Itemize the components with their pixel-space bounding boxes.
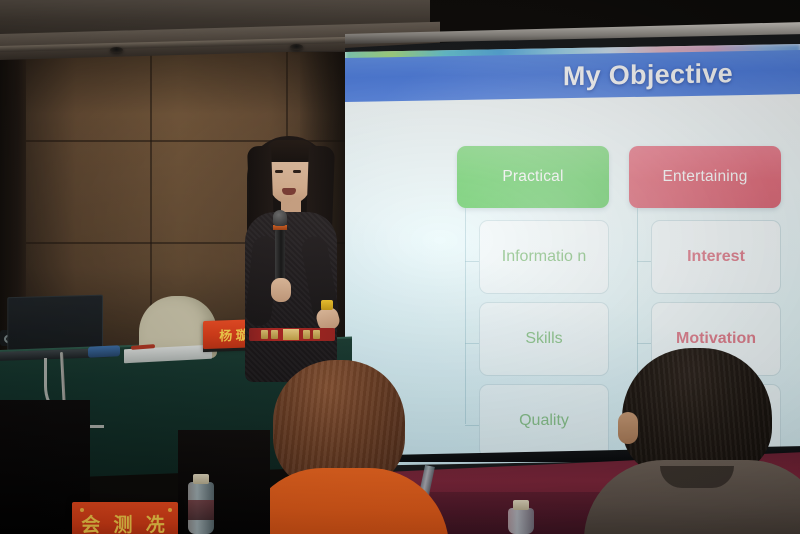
branch-head-entertaining: Entertaining: [629, 146, 781, 208]
water-bottle-label: [188, 500, 214, 520]
audience-jacket-orange: [243, 468, 449, 534]
microphone-icon: [273, 210, 287, 226]
presenter: [225, 132, 353, 382]
audience-collar: [660, 466, 734, 488]
presenter-belt-buckle: [283, 329, 299, 340]
slide-title: My Objective: [345, 52, 800, 100]
presenter-remote: [88, 345, 120, 358]
list-item: Quality: [457, 380, 609, 462]
presenter-badge: [321, 300, 333, 310]
downlight-icon: [290, 44, 303, 50]
list-item: Informatio n: [457, 216, 609, 298]
presenter-mouth: [282, 188, 296, 195]
presentation-photo-scene: My Objective Practical Informatio n Skil…: [0, 0, 800, 534]
foreground-placard: 会 测 冼: [72, 502, 178, 534]
water-bottle: [508, 508, 534, 534]
branch-children-practical: Informatio n Skills Quality: [457, 216, 609, 462]
list-item: Interest: [629, 216, 781, 298]
audience-member-front-right: [600, 348, 800, 534]
water-bottle-cap: [193, 474, 209, 484]
child-box-information: Informatio n: [479, 220, 609, 294]
child-box-interest: Interest: [651, 220, 781, 294]
water-bottle-cap: [513, 500, 529, 510]
slide-branch-practical: Practical Informatio n Skills Quality: [457, 146, 609, 208]
presenter-eye-left: [275, 170, 283, 173]
laptop-screen: [7, 295, 103, 354]
presenter-eye-right: [293, 170, 301, 173]
child-box-skills: Skills: [479, 302, 609, 376]
slide-branch-entertaining: Entertaining Interest Motivation ent: [629, 146, 781, 208]
audience-ear: [618, 412, 638, 444]
presenter-hand-left: [271, 278, 291, 302]
audience-member-front-left: [255, 360, 435, 534]
child-box-quality: Quality: [479, 384, 609, 458]
downlight-icon: [110, 47, 123, 53]
branch-head-practical: Practical: [457, 146, 609, 208]
audience-hair: [622, 348, 772, 476]
list-item: Skills: [457, 298, 609, 380]
